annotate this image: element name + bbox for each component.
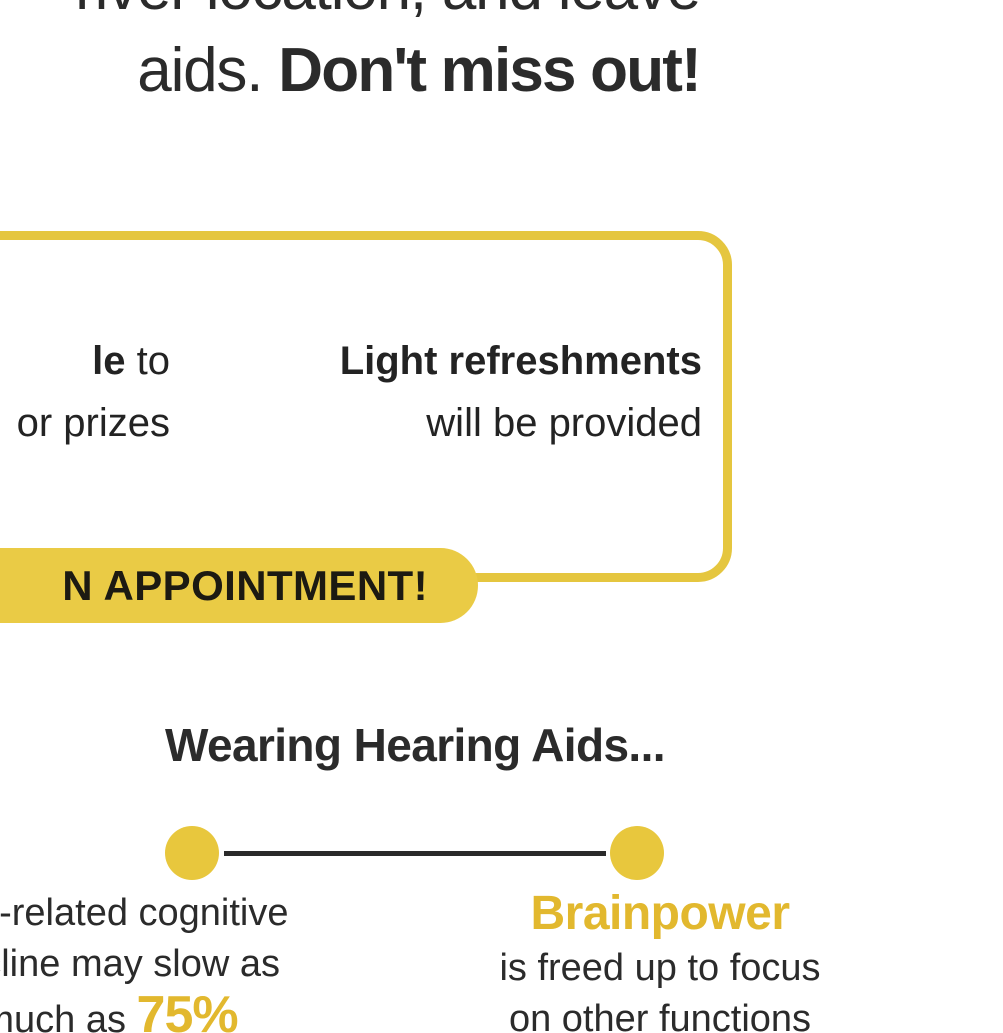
headline-line2-emphasis: Don't miss out! <box>278 36 700 105</box>
benefit-left-column: Age-related cognitive decline may slow a… <box>0 888 400 1033</box>
benefit-right-line-2: on other functions <box>420 994 900 1033</box>
headline-line1-text: river location, and leave <box>75 0 700 23</box>
benefit-left-line-1: Age-related cognitive <box>0 888 400 939</box>
callout-left-line1-bold: le <box>92 339 125 383</box>
headline-line2-regular: aids. <box>137 36 278 105</box>
benefit-right-column: Brainpower is freed up to focus on other… <box>420 888 900 1033</box>
benefits-section-heading: Wearing Hearing Aids... <box>0 718 830 772</box>
callout-right-column: Light refreshments will be provided <box>290 330 702 454</box>
callout-left-line-2: or prizes <box>0 392 170 454</box>
headline-line-clipped: river location, and leave <box>0 0 1003 22</box>
connector-dot-right-icon <box>610 826 664 880</box>
callout-left-line1-regular: to <box>126 339 170 383</box>
benefit-left-line3-prefix: much as <box>0 999 137 1033</box>
callout-right-line-1: Light refreshments <box>290 330 702 392</box>
connector-dot-left-icon <box>165 826 219 880</box>
benefit-left-line-2: decline may slow as <box>0 939 400 990</box>
callout-left-line-1: le to <box>0 330 170 392</box>
appointment-banner[interactable]: N APPOINTMENT! <box>0 548 478 623</box>
flyer-canvas: river location, and leave aids. Don't mi… <box>0 0 1003 1033</box>
benefit-right-line-1: is freed up to focus <box>420 943 900 994</box>
headline-line-2: aids. Don't miss out! <box>0 38 1003 104</box>
connector-line <box>224 851 606 856</box>
appointment-banner-label: N APPOINTMENT! <box>62 562 428 610</box>
benefit-right-title-wrap: Brainpower <box>420 888 900 943</box>
benefit-left-stat: 75% <box>137 986 238 1033</box>
connector-graphic <box>0 826 830 882</box>
callout-right-line-2: will be provided <box>290 392 702 454</box>
callout-left-column: le to or prizes <box>0 330 170 454</box>
benefit-left-line-3: much as 75% <box>0 990 400 1033</box>
benefit-right-title: Brainpower <box>530 887 789 940</box>
